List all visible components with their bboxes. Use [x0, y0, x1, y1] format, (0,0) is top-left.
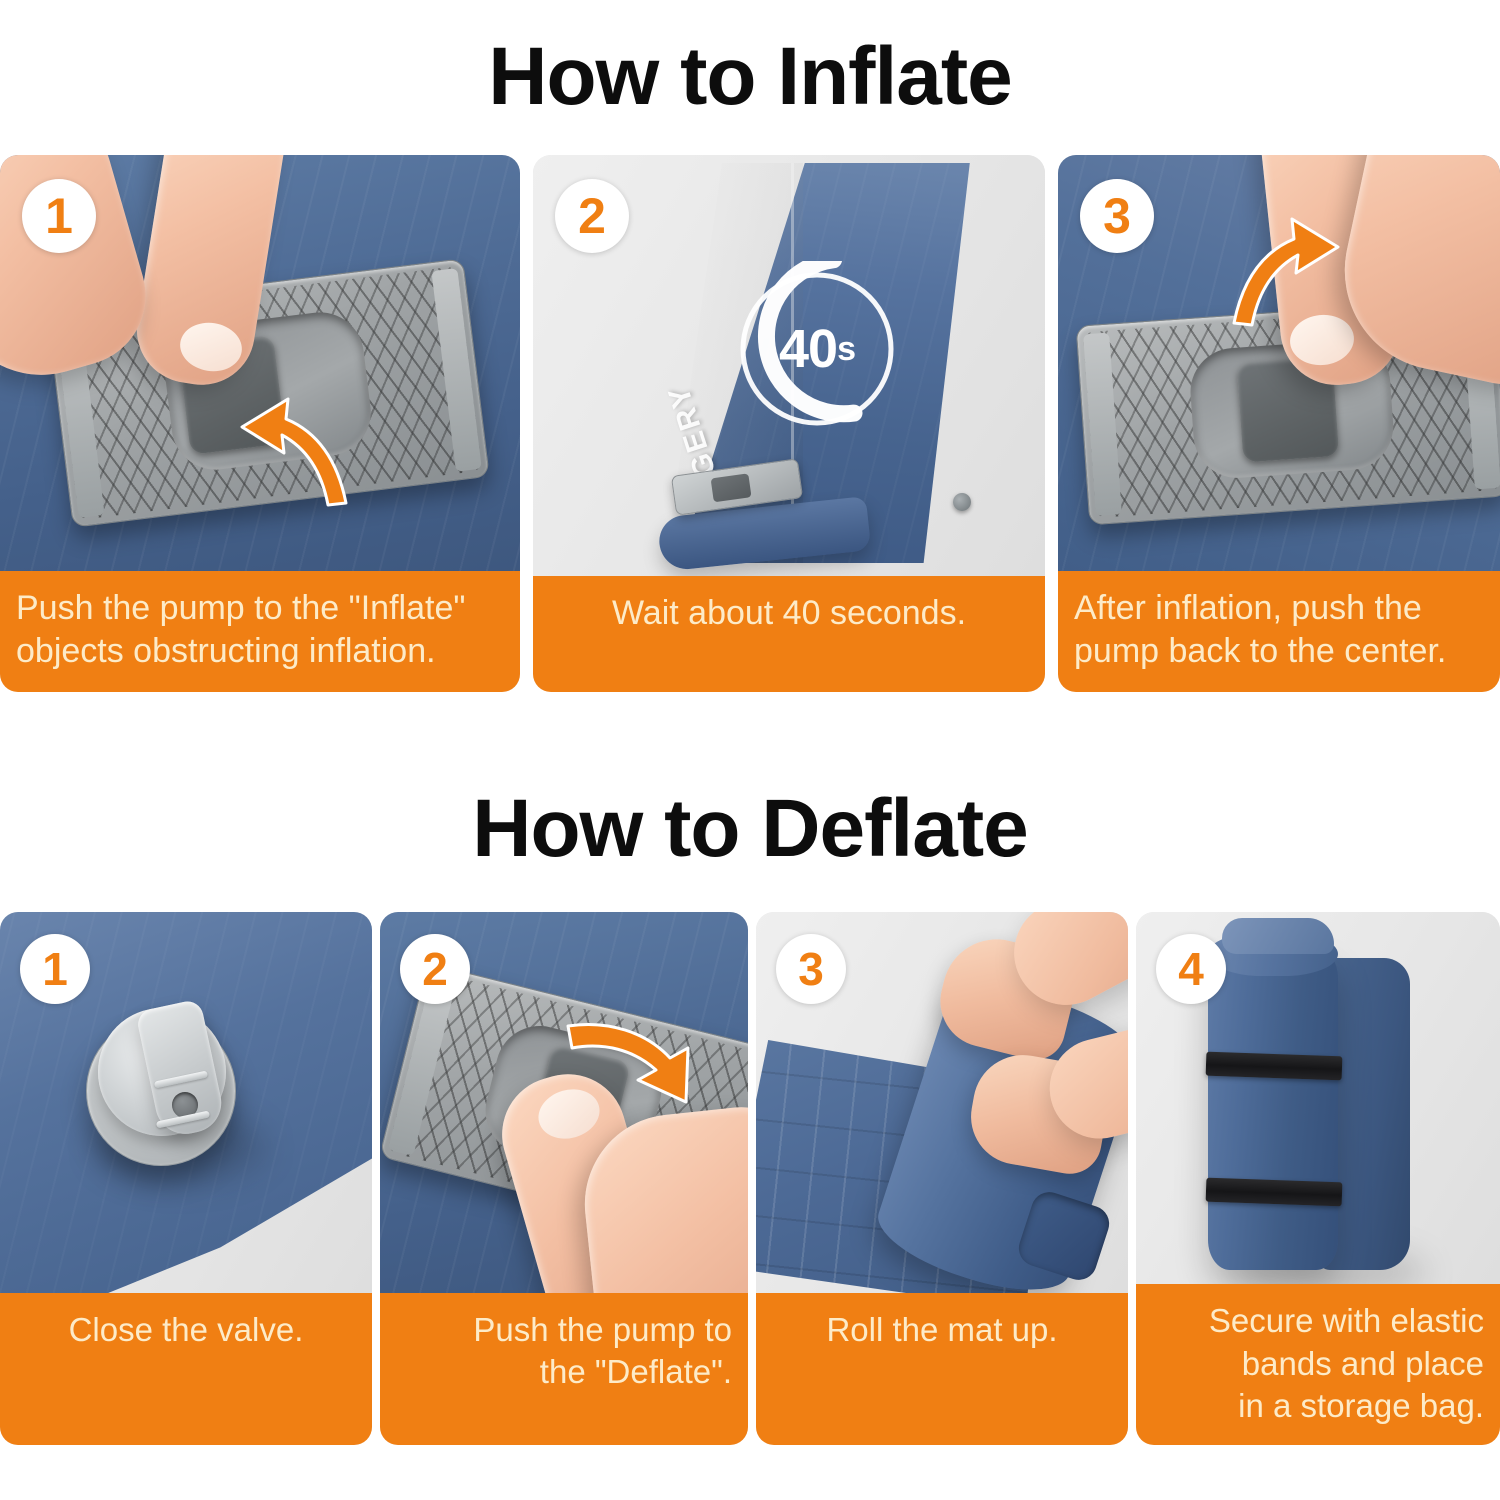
deflate-step-2-caption: Push the pump to the "Deflate".: [380, 1293, 748, 1445]
deflate-step-3-panel: Roll the mat up. 3: [756, 912, 1128, 1445]
deflate-direction-arrow: [562, 1010, 702, 1120]
step-badge-1: 1: [20, 934, 90, 1004]
rolled-mat-body: [1208, 948, 1338, 1270]
deflate-step-1-caption: Close the valve.: [0, 1293, 372, 1445]
elastic-band-top: [1206, 1052, 1343, 1081]
deflate-step-3-caption: Roll the mat up.: [756, 1293, 1128, 1445]
infographic-page: How to Inflate: [0, 0, 1500, 1500]
inflate-step-3-panel: After inflation, push the pump back to t…: [1058, 155, 1500, 692]
timer-value: 40: [779, 318, 837, 380]
deflate-step-4-caption: Secure with elastic bands and place in a…: [1136, 1284, 1500, 1445]
step-badge-2: 2: [555, 179, 629, 253]
step-badge-3: 3: [776, 934, 846, 1004]
deflate-steps-row: Close the valve. 1: [0, 912, 1500, 1445]
inflate-step-1-caption: Push the pump to the "Inflate" objects o…: [0, 571, 520, 692]
mat-rivet: [953, 493, 971, 511]
step-badge-3: 3: [1080, 179, 1154, 253]
deflate-step-4-panel: Secure with elastic bands and place in a…: [1136, 912, 1500, 1445]
elastic-band-bottom: [1206, 1178, 1343, 1207]
timer-unit: s: [837, 330, 855, 369]
timer-ring: 40s: [729, 261, 905, 437]
inflate-direction-arrow: [228, 391, 358, 511]
inflate-step-2-caption: Wait about 40 seconds.: [533, 576, 1045, 692]
step-badge-4: 4: [1156, 934, 1226, 1004]
timer-label: 40s: [729, 261, 905, 437]
inflate-return-arrow: [1222, 211, 1352, 331]
roll-top-bunch: [1222, 918, 1334, 954]
step-badge-1: 1: [22, 179, 96, 253]
inflate-steps-row: Push the pump to the "Inflate" objects o…: [0, 155, 1500, 692]
deflate-step-2-panel: Push the pump to the "Deflate". 2: [380, 912, 748, 1445]
deflate-step-1-panel: Close the valve. 1: [0, 912, 372, 1445]
inflate-step-3-caption: After inflation, push the pump back to t…: [1058, 571, 1500, 692]
step-badge-2: 2: [400, 934, 470, 1004]
inflate-step-2-panel: OGERY 40s Wait about 40 seconds. 2: [533, 155, 1045, 692]
page-title-deflate: How to Deflate: [0, 788, 1500, 870]
inflate-step-1-panel: Push the pump to the "Inflate" objects o…: [0, 155, 520, 692]
page-title-inflate: How to Inflate: [0, 36, 1500, 118]
